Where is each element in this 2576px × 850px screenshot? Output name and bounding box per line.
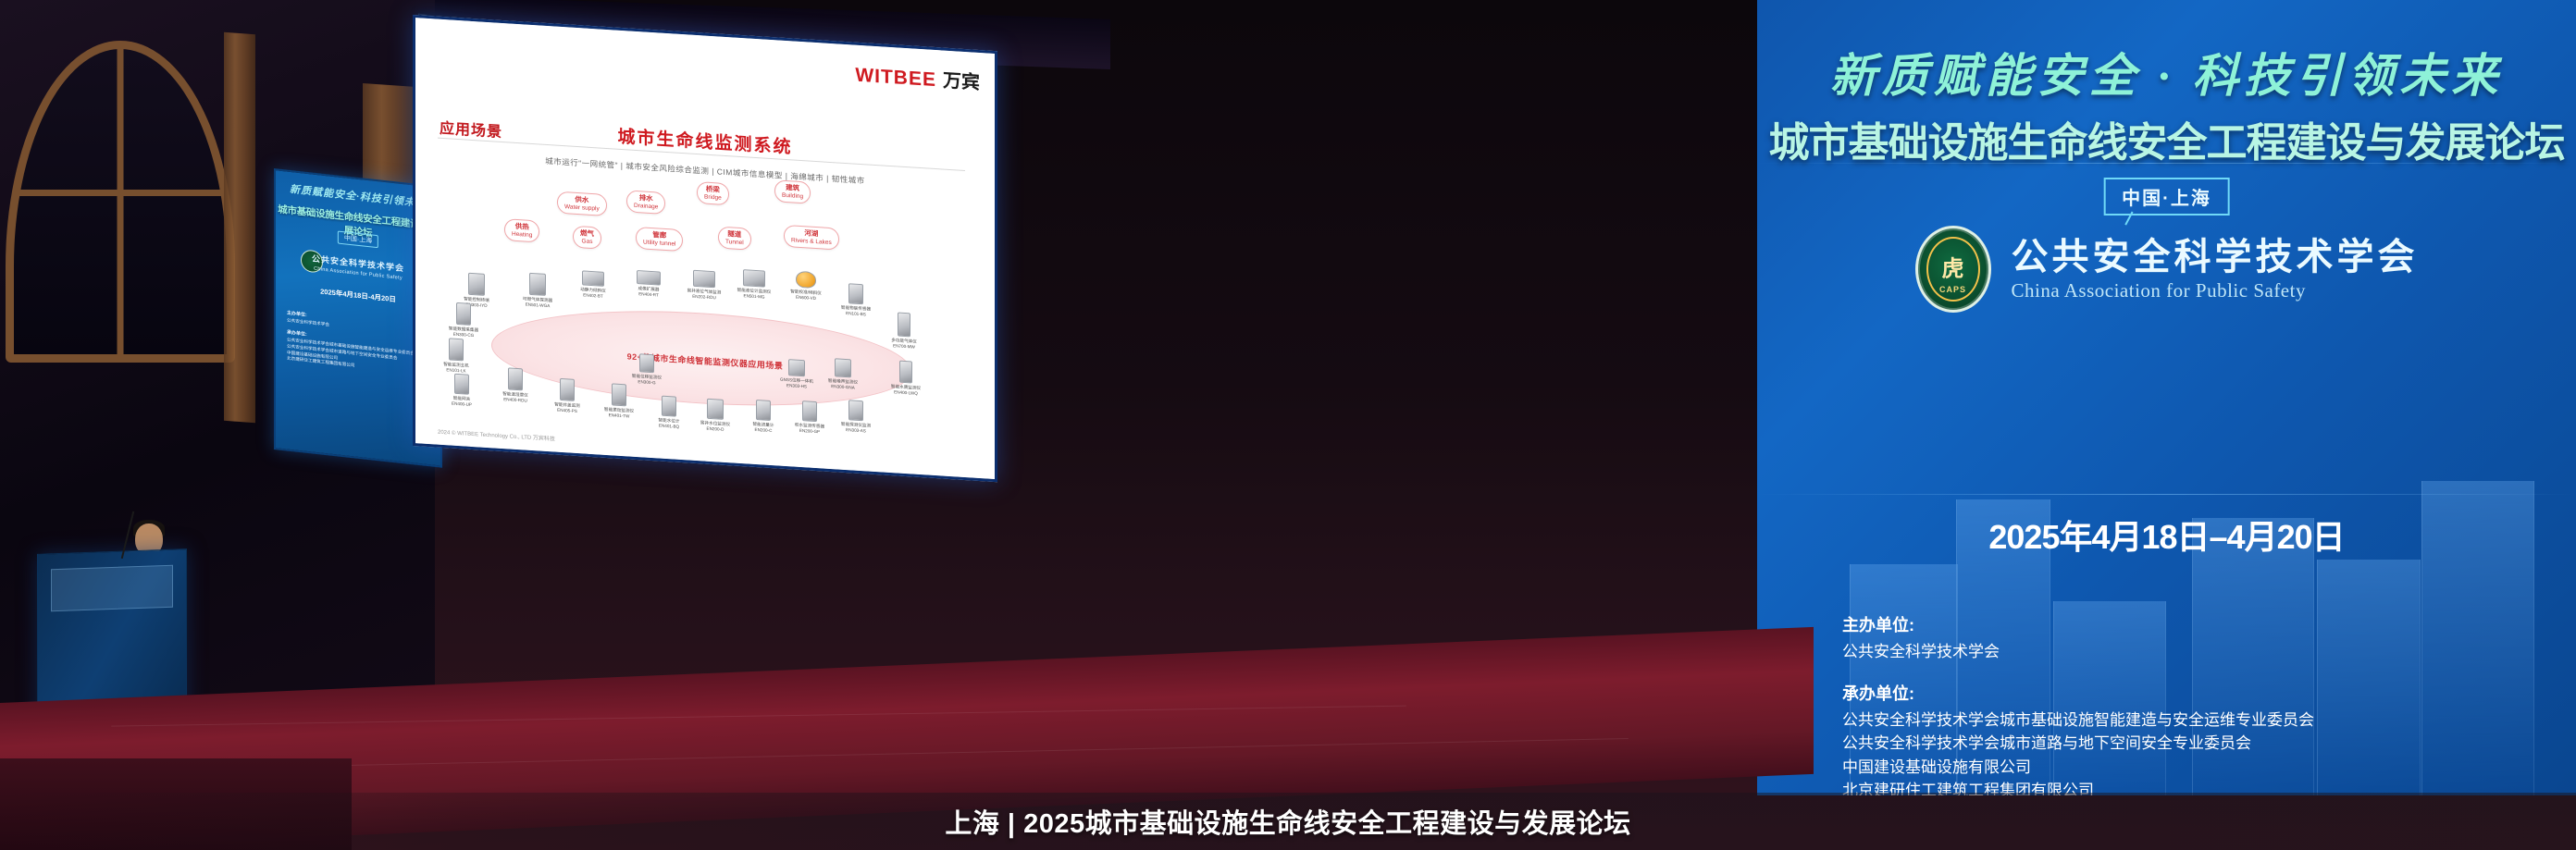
device-icon [582,270,604,286]
pill-label-en: Heating [512,230,532,239]
caption-text: 上海 | 2025城市基础设施生命线安全工程建设与发展论坛 [945,802,1630,841]
device-item: 窖井液位气体监测 EN202-RDU [682,269,726,301]
wood-column-left [224,32,255,423]
pill-drainage: 排水 Drainage [626,190,665,215]
main-led-screen: WITBEE 万宾 应用场景 城市生命线监测系统 城市运行“一网统管” | 城市… [413,15,997,482]
conference-stage-photo: 新质赋能安全·科技引领未来 城市基础设施生命线安全工程建设与发展论坛 中国·上海… [0,0,2576,850]
device-icon [848,283,863,304]
pill-label-en: Water supply [564,203,600,213]
side-organizers: 主办单位: 公共安全科学技术学会 承办单位: 公共安全科学技术学会城市基础设施智… [287,311,433,379]
banner-organizer-item: 公共安全科学技术学会城市道路与地下空间安全专业委员会 [1842,732,2539,756]
banner-host-value: 公共安全科学技术学会 [1842,640,2539,664]
device-icon [707,399,724,420]
pill-heating: 供热 Heating [504,218,539,242]
device-icon [835,358,851,377]
device-item: 动静力倾斜仪 EN402-BT [571,270,615,300]
banner-association-en: China Association for Public Safety [2012,279,2419,302]
device-code: EN404-RT [638,291,659,297]
pill-tunnel: 隧道 Tunnel [718,226,751,250]
pill-building: 建筑 Building [774,179,811,204]
banner-calligraphy-title: 新质赋能安全 · 科技引领未来 [1757,39,2576,105]
device-icon [756,400,771,421]
device-icon [639,353,654,373]
banner-organizer-label: 承办单位: [1842,681,2539,705]
pill-label-en: Rivers & Lakes [791,237,832,246]
pill-label-en: Gas [580,238,594,245]
pill-utility-tunnel: 管廊 Utility tunnel [636,227,683,252]
device-icon [529,273,546,296]
device-icon [796,271,816,289]
pill-label-en: Tunnel [725,239,744,247]
slide-footer-copyright: 2024 © WITBEE Technology Co., LTD 万宾科技 [438,427,555,443]
pill-label-en: Building [782,191,803,200]
device-icon [662,396,676,417]
device-item: 智能探测仪监测 EN303-AS [834,399,878,434]
device-icon [899,361,912,384]
pill-gas: 燃气 Gas [573,226,601,250]
window-mullion-horizontal [14,190,227,196]
device-code: EN300-G [638,379,655,385]
device-code: EN101-LK [446,367,465,373]
carpet-seam [241,738,1629,768]
banner-location-chip: 中国·上海 [2103,178,2230,216]
device-item: 智能液位计监测仪 EN501-MG [732,268,776,300]
device-icon [456,302,471,326]
caption-bar: 上海 | 2025城市基础设施生命线安全工程建设与发展论坛 [0,793,2576,850]
device-code: EN400-UP [452,400,472,406]
brand-name-cn: 万宾 [943,66,980,94]
device-code: EN303-HS [786,383,807,388]
device-icon [612,383,626,406]
device-item: 智能温湿度仪 EN400-RDU [493,366,538,403]
device-icon [468,273,485,296]
device-item: 智能位移监测仪 EN300-G [625,352,669,386]
device-icon [693,270,715,288]
device-item: 智能数据采集器 EN300-CG [441,302,486,339]
carpet-seam [111,706,1406,727]
device-icon [508,367,523,390]
device-code: EN501-MG [744,293,765,299]
device-item: 智能水位计 EN401-BQ [647,395,691,430]
decor-glow-line [1757,494,2576,495]
caps-seal-icon: 虎 [1915,226,1991,313]
device-code: EN300-CG [453,331,474,337]
banner-organizer-item: 中国建设基础设施有限公司 [1842,756,2539,780]
witbee-logo: WITBEE 万宾 [855,60,980,94]
brand-name-en: WITBEE [855,65,936,92]
device-icon [454,374,469,395]
device-item: 智能网关 EN400-UP [440,373,484,408]
device-item: 智能校准/倾斜仪 EN600-VD [784,270,828,302]
device-item: 智能流量计 EN200-C [741,399,786,434]
device-code: EN401-BQ [659,423,679,428]
device-item: 多功能气体仪 EN700-MW [882,311,926,350]
presentation-slide: WITBEE 万宾 应用场景 城市生命线监测系统 城市运行“一网统管” | 城市… [415,18,995,479]
device-code: EN101-BS [846,311,866,316]
forum-backdrop-banner: 新质赋能安全 · 科技引领未来 城市基础设施生命线安全工程建设与发展论坛 中国·… [1757,0,2576,795]
device-code: EN405-PS [557,407,577,413]
device-item: 可燃气体探测器 EN501-WGA [515,272,560,309]
device-code: EN200-D [707,425,724,431]
banner-association-block: 虎 公共安全科学技术学会 China Association for Publi… [1757,226,2576,313]
device-icon [788,359,805,376]
pill-label-en: Drainage [634,202,658,210]
banner-date: 2025年4月18日–4月20日 [1757,511,2576,559]
device-item: 智能振动监测仪 EN401-TW [597,382,641,419]
device-item: 智能监测主机 EN101-LK [434,337,478,374]
banner-host-label: 主办单位: [1842,612,2539,636]
device-icon [898,313,910,338]
device-icon [449,338,464,361]
device-code: EN400-LWQ [894,389,918,396]
device-item: 智能水质监测仪 EN400-LWQ [884,360,928,397]
pill-label-cn: 燃气 [580,229,594,239]
device-code: EN202-RDU [692,293,716,300]
device-code: EN300-GNA [831,384,855,390]
spacer [1842,664,2539,681]
window-mullion-vertical [118,49,124,354]
device-item: 智能噪声监测仪 EN300-GNA [821,357,865,390]
side-host-value: 公共安全科学技术学会 [287,317,329,326]
pill-water-supply: 供水 Water supply [557,191,607,216]
seal-glyph: 虎 [1942,251,1964,283]
device-code: EN401-TW [609,413,630,418]
device-item: 成像扩展器 EN404-RT [626,269,671,298]
podium-badge [51,565,173,612]
device-item: GNSS位移一体机 EN303-HS [774,358,819,389]
device-icon [637,270,661,286]
device-code: EN501-WGA [526,302,551,308]
device-code: EN402-BT [583,292,602,298]
device-item: 智能井盖监测 EN405-PS [545,377,589,414]
device-code: EN200-C [755,427,773,433]
device-item: 窖井水位监测仪 EN200-D [693,398,737,433]
device-item: 智能物联传感器 EN101-BS [834,282,878,317]
banner-association-cn: 公共安全科学技术学会 [2012,237,2419,277]
device-icon [848,400,863,421]
device-code: EN303-AS [846,427,866,433]
device-code: EN200-GP [799,428,820,434]
banner-organizers-block: 主办单位: 公共安全科学技术学会 承办单位: 公共安全科学技术学会城市基础设施智… [1842,612,2539,795]
device-item: 积水监测传感器 EN200-GP [787,400,832,435]
banner-organizer-item: 公共安全科学技术学会城市基础设施智能建造与安全运维专业委员会 [1842,708,2539,733]
device-icon [743,269,765,287]
device-code: EN400-RDU [503,397,527,403]
device-icon [560,378,575,401]
device-icon [802,400,817,422]
pill-label-en: Utility tunnel [643,239,675,248]
pill-rivers-lakes: 河湖 Rivers & Lakes [784,225,839,251]
banner-forum-title: 城市基础设施生命线安全工程建设与发展论坛 [1757,109,2576,168]
banner-association-text: 公共安全科学技术学会 China Association for Public … [2012,237,2419,302]
device-code: EN700-MW [893,343,915,349]
device-code: EN600-VD [796,294,816,300]
pill-label-en: Bridge [704,193,722,202]
pill-bridge: 桥梁 Bridge [697,181,729,205]
